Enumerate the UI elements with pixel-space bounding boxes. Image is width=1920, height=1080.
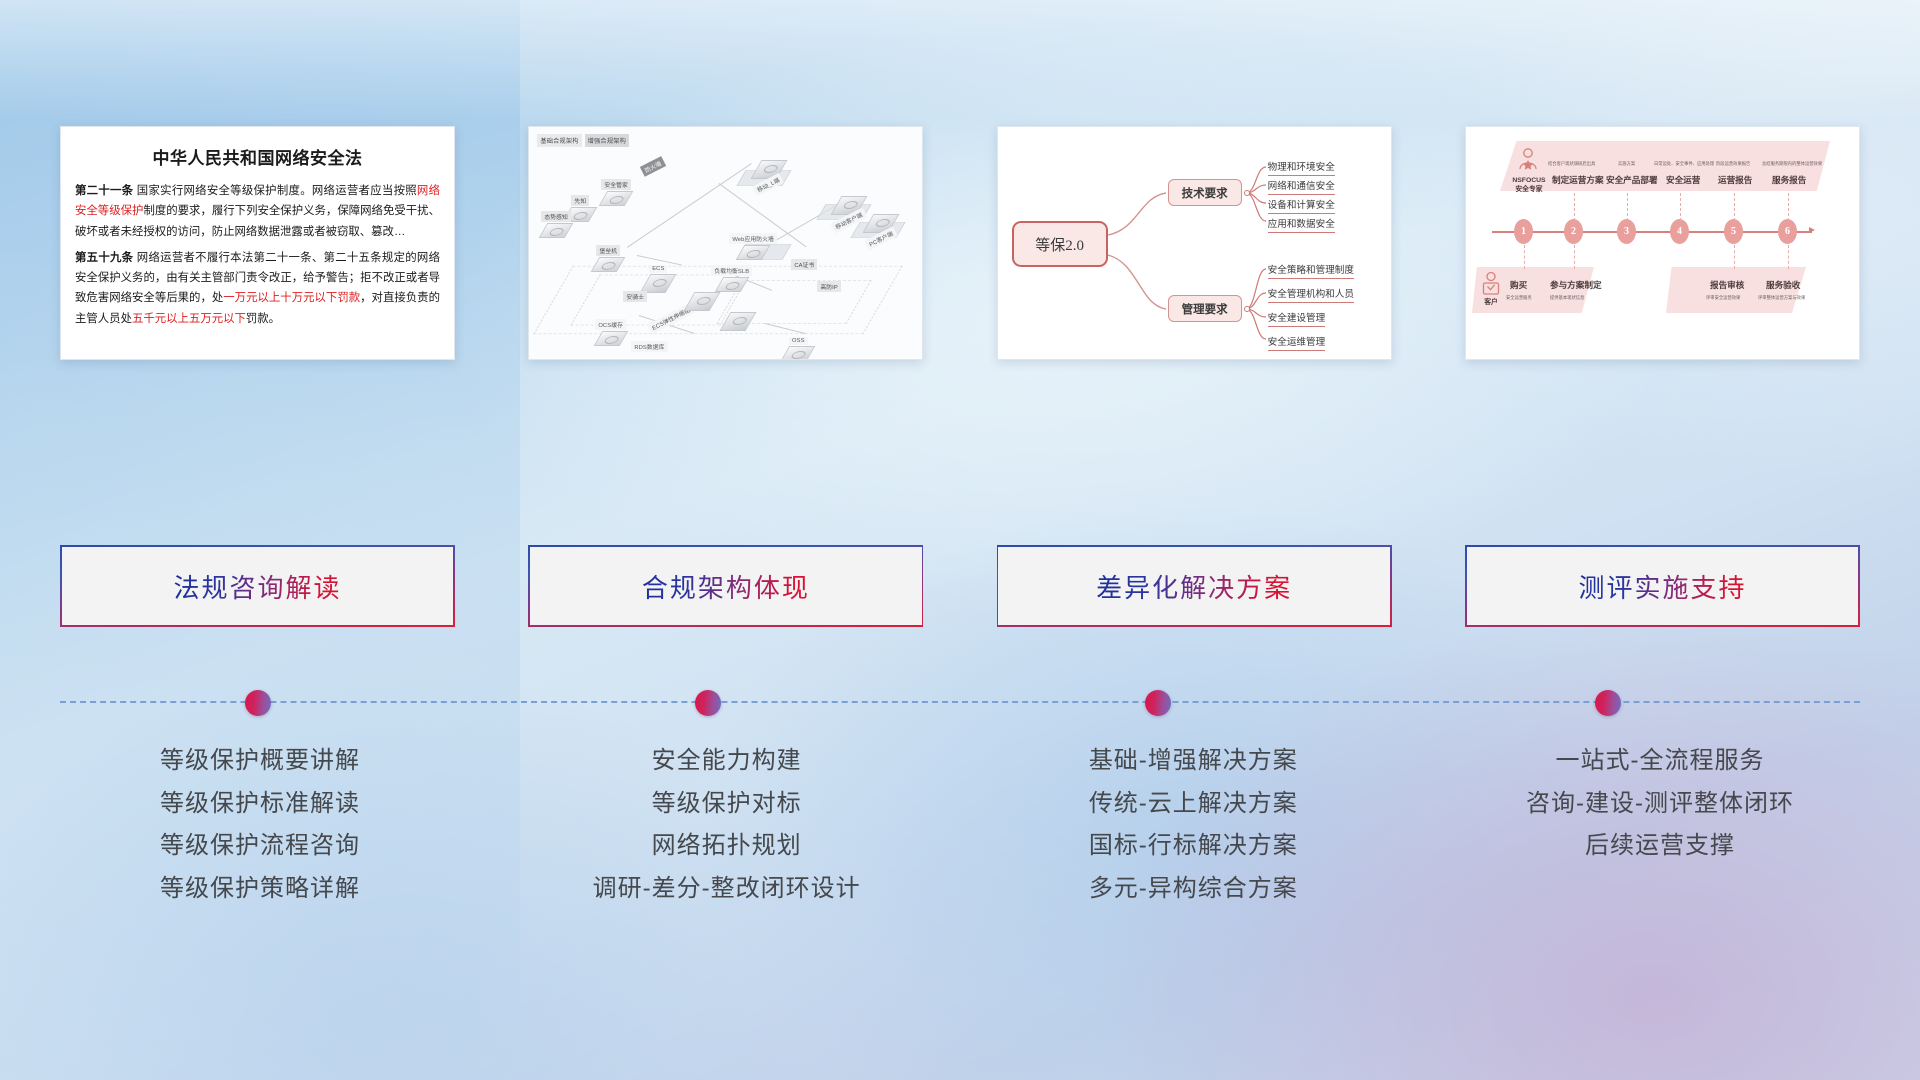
customer-step-subtitle: 提供基本现状信息 bbox=[1550, 295, 1584, 301]
architecture-node-label: OCS缓存 bbox=[595, 319, 626, 330]
customer-role-label: 客户 bbox=[1478, 299, 1504, 307]
list-item: 基础-增强解决方案 bbox=[993, 740, 1393, 783]
architecture-node-label: Web应用防火墙 bbox=[729, 233, 777, 244]
timeline-step-node[interactable]: 3 bbox=[1617, 219, 1636, 244]
architecture-node-slb: 负载均衡SLB bbox=[711, 265, 752, 292]
architecture-node-anqishi: 安骑士 bbox=[623, 291, 647, 302]
list-item: 网络拓扑规划 bbox=[527, 825, 927, 868]
provider-role-label: 安全专家 bbox=[1500, 186, 1558, 194]
architecture-node-bastion-host: 堡垒机 bbox=[595, 245, 621, 272]
architecture-node-icon bbox=[599, 191, 634, 206]
mindmap-leaf: 安全管理机构和人员 bbox=[1268, 286, 1354, 303]
architecture-node-ca-cert: CA证书 bbox=[791, 259, 817, 270]
list-item: 一站式-全流程服务 bbox=[1460, 740, 1860, 783]
banner-label: 测评实施支持 bbox=[1578, 568, 1746, 605]
timeline-connector bbox=[1788, 245, 1789, 269]
timeline-dot-2[interactable] bbox=[695, 690, 721, 716]
mindmap-leaf: 网络和通信安全 bbox=[1268, 178, 1335, 195]
detail-list-regulation: 等级保护概要讲解 等级保护标准解读 等级保护流程咨询 等级保护策略详解 bbox=[60, 740, 460, 911]
timeline-connector bbox=[1627, 193, 1628, 221]
architecture-node-oss: OSS bbox=[785, 337, 811, 360]
banner-differentiated-solution[interactable]: 差异化解决方案 bbox=[997, 545, 1392, 627]
provider-name-label: NSFOCUS bbox=[1500, 177, 1558, 185]
architecture-node-label: 负载均衡SLB bbox=[711, 265, 752, 276]
security-expert-icon bbox=[1516, 147, 1540, 177]
timeline-step-subtitle: 结合客户现状调研后出具 bbox=[1548, 161, 1595, 167]
timeline-step-title: 安全产品部署 bbox=[1606, 174, 1658, 186]
list-item: 后续运营支撑 bbox=[1460, 825, 1860, 868]
banner-compliance-architecture[interactable]: 合规架构体现 bbox=[528, 545, 923, 627]
customer-step-title: 服务验收 bbox=[1766, 279, 1800, 291]
timeline-connector bbox=[1574, 245, 1575, 269]
architecture-node-ocs-cache: OCS缓存 bbox=[595, 319, 626, 346]
mindmap-leaf: 安全策略和管理制度 bbox=[1268, 262, 1354, 279]
customer-step-title: 报告审核 bbox=[1710, 279, 1744, 291]
law-paragraph-59: 第五十九条 网络运营者不履行本法第二十一条、第二十五条规定的网络安全保护义务的，… bbox=[75, 248, 440, 329]
list-item: 等级保护概要讲解 bbox=[60, 740, 460, 783]
card-cybersecurity-law[interactable]: 中华人民共和国网络安全法 第二十一条 国家实行网络安全等级保护制度。网络运营者应… bbox=[60, 126, 455, 360]
customer-step-title: 参与方案制定 bbox=[1550, 279, 1602, 291]
timeline-connector bbox=[1524, 245, 1525, 269]
architecture-node-icon bbox=[736, 245, 771, 260]
architecture-node-label: ECS bbox=[649, 265, 667, 273]
architecture-node-label: 防火墙 bbox=[640, 156, 666, 177]
timeline-step-title: 安全运营 bbox=[1666, 174, 1700, 186]
banner-label: 法规咨询解读 bbox=[173, 568, 341, 605]
timeline-axis bbox=[1492, 231, 1812, 233]
architecture-node-xianzhi: 先知 bbox=[567, 195, 593, 222]
timeline-dashed-line bbox=[60, 701, 1860, 703]
architecture-node-icon bbox=[720, 312, 757, 331]
timeline-step-subtitle: 阶段运营效果报告 bbox=[1716, 161, 1750, 167]
architecture-node-pc-client: PC客户端 bbox=[865, 213, 897, 244]
law-run: 罚款。 bbox=[246, 313, 280, 325]
card-mindmap-dengbao[interactable]: 等保2.0 技术要求 物理和环境安全 网络和通信安全 设备和计算安全 应用和数据… bbox=[997, 126, 1392, 360]
architecture-node-label: RDS数据库 bbox=[631, 341, 667, 352]
timeline-step-node[interactable]: 4 bbox=[1670, 219, 1689, 244]
law-article-number: 第五十九条 bbox=[75, 252, 133, 264]
service-timeline: NSFOCUS 安全专家 客户 1 2 3 4 5 6 bbox=[1466, 127, 1859, 359]
law-title: 中华人民共和国网络安全法 bbox=[61, 144, 454, 169]
timeline-step-title: 服务报告 bbox=[1772, 174, 1806, 186]
list-item: 等级保护标准解读 bbox=[60, 783, 460, 826]
banner-label: 合规架构体现 bbox=[642, 568, 810, 605]
banner-label: 差异化解决方案 bbox=[1096, 568, 1292, 605]
law-run: 国家实行网络安全等级保护制度。网络运营者应当按照 bbox=[133, 185, 417, 197]
banner-row: 法规咨询解读 合规架构体现 差异化解决方案 测评实施支持 bbox=[60, 545, 1860, 627]
architecture-node-label: 态势感知 bbox=[541, 211, 571, 222]
detail-list-evaluation: 一站式-全流程服务 咨询-建设-测评整体闭环 后续运营支撑 bbox=[1460, 740, 1860, 911]
architecture-node-icon bbox=[714, 277, 749, 292]
timeline-connector bbox=[1734, 193, 1735, 221]
timeline-connector bbox=[1734, 245, 1735, 269]
customer-step-title: 购买 bbox=[1510, 279, 1527, 291]
architecture-node-firewall: 防火墙 bbox=[641, 161, 665, 172]
progress-timeline bbox=[60, 690, 1860, 714]
mindmap-leaf: 安全建设管理 bbox=[1268, 310, 1326, 327]
mindmap-branch-technical: 技术要求 bbox=[1168, 179, 1242, 206]
mindmap: 等保2.0 技术要求 物理和环境安全 网络和通信安全 设备和计算安全 应用和数据… bbox=[998, 127, 1391, 359]
architecture-node-ecs-pool-b bbox=[725, 311, 751, 331]
mindmap-collapse-dot-technical[interactable] bbox=[1244, 190, 1250, 196]
architecture-node-ecs: ECS bbox=[645, 265, 671, 293]
timeline-connector bbox=[1680, 193, 1681, 221]
architecture-node-icon bbox=[539, 223, 574, 238]
list-item: 安全能力构建 bbox=[527, 740, 927, 783]
timeline-step-node[interactable]: 2 bbox=[1564, 219, 1583, 244]
architecture-node-label: 堡垒机 bbox=[596, 245, 620, 256]
law-run-highlight: 一万元以上十万元以下罚款 bbox=[223, 292, 360, 304]
mindmap-root-node: 等保2.0 bbox=[1012, 221, 1108, 267]
law-article-number: 第二十一条 bbox=[75, 185, 133, 197]
timeline-step-subtitle: 总结服务期限内的整体运营效果 bbox=[1762, 161, 1822, 167]
mindmap-collapse-dot-management[interactable] bbox=[1244, 306, 1250, 312]
architecture-node-situation-awareness: 态势感知 bbox=[541, 211, 571, 238]
architecture-tab-enhanced[interactable]: 增强合规架构 bbox=[585, 134, 629, 147]
timeline-step-node[interactable]: 1 bbox=[1514, 219, 1533, 244]
mindmap-leaf: 安全运维管理 bbox=[1268, 334, 1326, 351]
list-item: 等级保护对标 bbox=[527, 783, 927, 826]
architecture-node-ecs-pool-a bbox=[689, 291, 715, 311]
mindmap-leaf: 应用和数据安全 bbox=[1268, 216, 1335, 233]
architecture-tabs: 基础合规架构 增强合规架构 bbox=[537, 134, 629, 147]
list-item: 传统-云上解决方案 bbox=[993, 783, 1393, 826]
timeline-step-title: 制定运营方案 bbox=[1552, 174, 1604, 186]
architecture-node-rds: RDS数据库 bbox=[631, 341, 667, 352]
timeline-dot-1[interactable] bbox=[245, 690, 271, 716]
list-item: 等级保护流程咨询 bbox=[60, 825, 460, 868]
customer-step-subtitle: 安全运营服务 bbox=[1506, 295, 1532, 301]
architecture-node-ecs-scaling-group: ECS弹性伸缩组 bbox=[647, 313, 695, 324]
architecture-node-icon bbox=[684, 292, 721, 311]
architecture-node-label: 安骑士 bbox=[623, 291, 647, 302]
architecture-connector bbox=[637, 255, 682, 265]
mindmap-branch-management: 管理要求 bbox=[1168, 295, 1242, 322]
list-item: 等级保护策略详解 bbox=[60, 868, 460, 911]
timeline-step-title: 运营报告 bbox=[1718, 174, 1752, 186]
law-body: 第二十一条 国家实行网络安全等级保护制度。网络运营者应当按照网络安全等级保护制度… bbox=[61, 181, 454, 329]
architecture-node-icon bbox=[593, 331, 628, 346]
architecture-node-label: OSS bbox=[789, 337, 808, 345]
timeline-step-subtitle: 实施方案 bbox=[1618, 161, 1635, 167]
detail-list-row: 等级保护概要讲解 等级保护标准解读 等级保护流程咨询 等级保护策略详解 安全能力… bbox=[60, 740, 1860, 911]
architecture-node-label: 高防IP bbox=[817, 281, 840, 292]
architecture-node-mobile-client: 移动客户端 bbox=[831, 195, 867, 226]
architecture-node-label: 先知 bbox=[571, 195, 589, 206]
list-item: 咨询-建设-测评整体闭环 bbox=[1460, 783, 1860, 826]
thumbnail-card-row: 中华人民共和国网络安全法 第二十一条 国家实行网络安全等级保护制度。网络运营者应… bbox=[60, 126, 1860, 360]
architecture-diagram: 基础合规架构 增强合规架构 防火墙 bbox=[529, 127, 922, 359]
timeline-step-subtitle: 日常运处、安全事件、应用处理 bbox=[1654, 161, 1714, 167]
customer-step-subtitle: 评审安全运营效果 bbox=[1706, 295, 1740, 301]
timeline-step-node[interactable]: 6 bbox=[1778, 219, 1797, 244]
mindmap-leaf: 设备和计算安全 bbox=[1268, 197, 1335, 214]
architecture-node-label: 安全管家 bbox=[601, 179, 631, 190]
timeline-arrow-icon bbox=[1809, 227, 1815, 233]
timeline-connector bbox=[1574, 193, 1575, 221]
architecture-node-label: CA证书 bbox=[791, 259, 817, 270]
list-item: 多元-异构综合方案 bbox=[993, 868, 1393, 911]
architecture-node-security-steward: 安全管家 bbox=[601, 179, 631, 206]
card-nsfocus-timeline[interactable]: NSFOCUS 安全专家 客户 1 2 3 4 5 6 bbox=[1465, 126, 1860, 360]
timeline-dot-4[interactable] bbox=[1595, 690, 1621, 716]
timeline-step-node[interactable]: 5 bbox=[1724, 219, 1743, 244]
customer-icon bbox=[1480, 271, 1502, 297]
law-paragraph-21: 第二十一条 国家实行网络安全等级保护制度。网络运营者应当按照网络安全等级保护制度… bbox=[75, 181, 440, 242]
mindmap-leaf: 物理和环境安全 bbox=[1268, 159, 1335, 176]
law-run-highlight: 五千元以上五万元以下 bbox=[132, 313, 246, 325]
architecture-node-waf: Web应用防火墙 bbox=[729, 233, 777, 260]
architecture-node-icon bbox=[781, 346, 816, 360]
banner-regulation-consulting[interactable]: 法规咨询解读 bbox=[60, 545, 455, 627]
list-item: 国标-行标解决方案 bbox=[993, 825, 1393, 868]
card-cloud-architecture[interactable]: 基础合规架构 增强合规架构 防火墙 bbox=[528, 126, 923, 360]
list-item: 调研-差分-整改闭环设计 bbox=[527, 868, 927, 911]
customer-step-subtitle: 评审整体运营方案与效果 bbox=[1758, 295, 1805, 301]
banner-evaluation-support[interactable]: 测评实施支持 bbox=[1465, 545, 1860, 627]
timeline-dot-3[interactable] bbox=[1145, 690, 1171, 716]
architecture-node-mobile-terminal: 移动_L端 bbox=[753, 159, 783, 190]
timeline-connector bbox=[1788, 193, 1789, 221]
detail-list-solution: 基础-增强解决方案 传统-云上解决方案 国标-行标解决方案 多元-异构综合方案 bbox=[993, 740, 1393, 911]
architecture-node-anti-ddos-ip: 高防IP bbox=[817, 281, 840, 292]
detail-list-architecture: 安全能力构建 等级保护对标 网络拓扑规划 调研-差分-整改闭环设计 bbox=[527, 740, 927, 911]
architecture-node-icon bbox=[591, 257, 626, 272]
architecture-tab-basic[interactable]: 基础合规架构 bbox=[537, 134, 581, 147]
